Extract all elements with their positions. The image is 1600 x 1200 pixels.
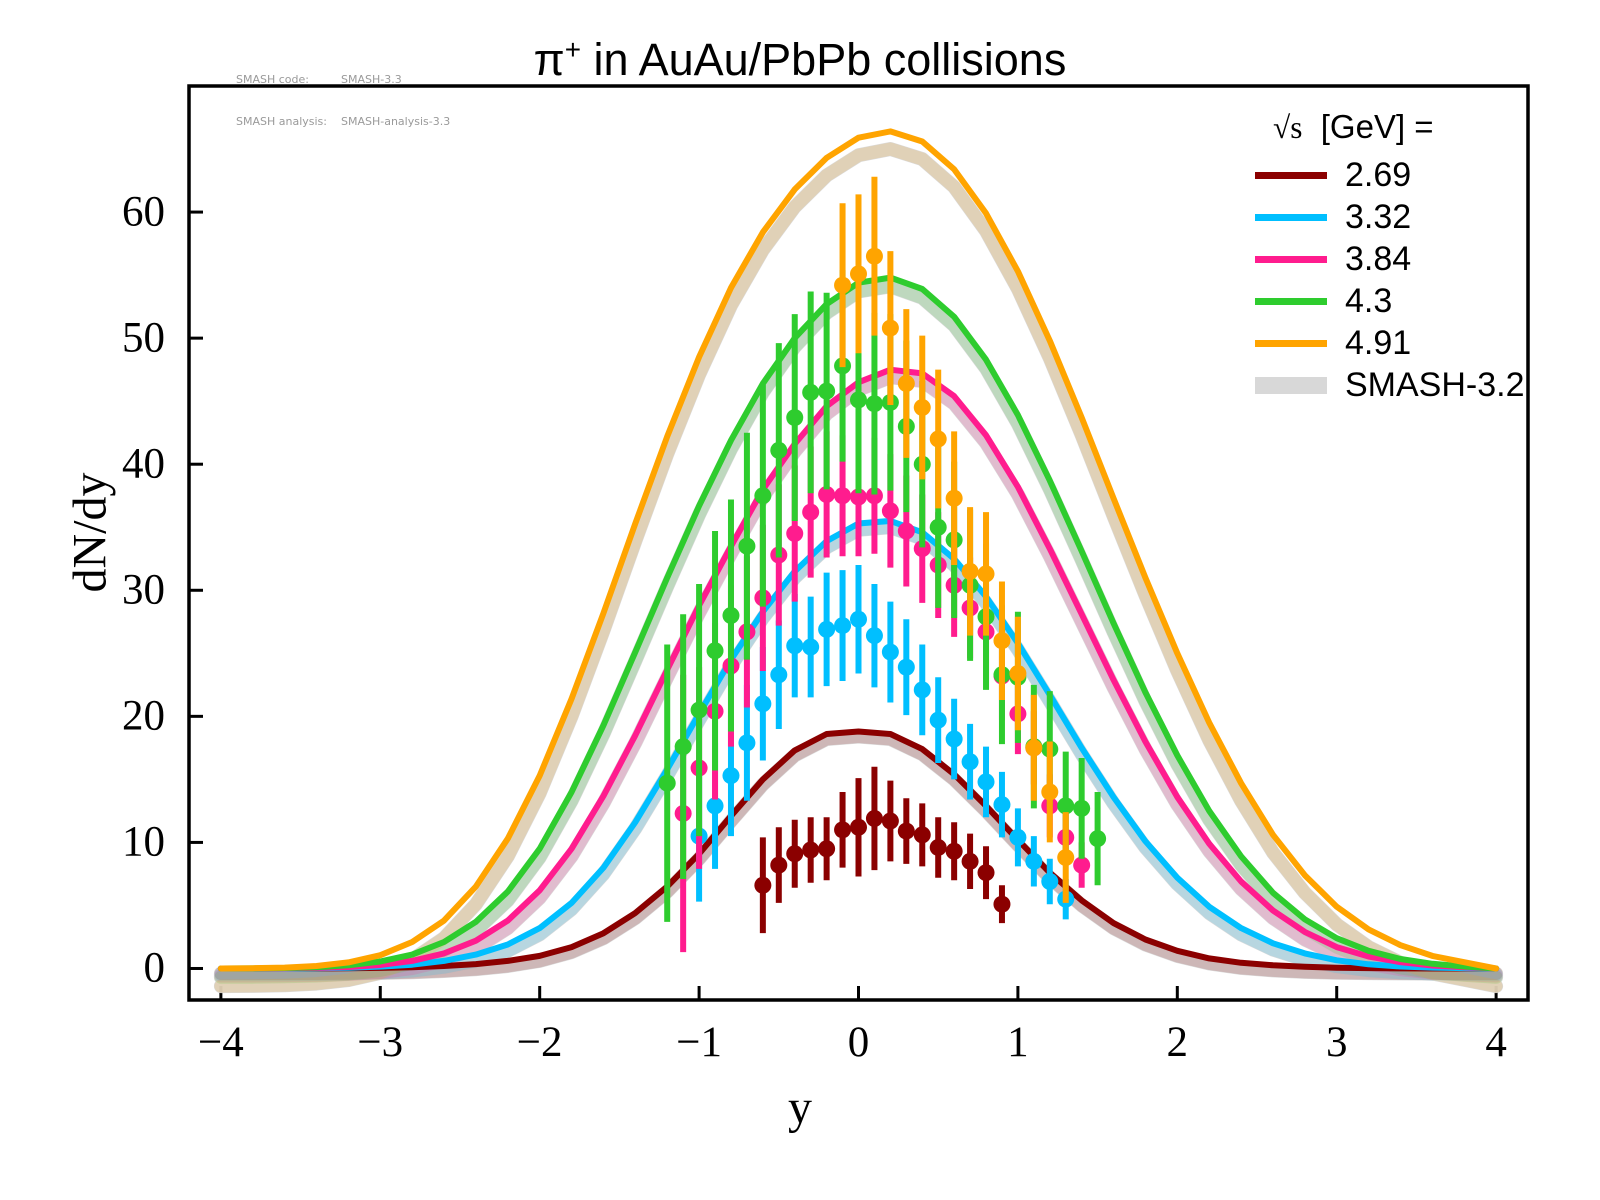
data-point: [993, 796, 1010, 813]
legend-item-4.91[interactable]: 4.91: [1255, 322, 1545, 364]
data-point: [866, 627, 883, 644]
data-point: [962, 563, 979, 580]
data-point: [882, 320, 899, 337]
data-point: [675, 738, 692, 755]
legend-title-suffix: [GeV] =: [1321, 108, 1434, 145]
data-point: [770, 857, 787, 874]
data-point: [1025, 739, 1042, 756]
data-point: [786, 525, 803, 542]
x-tick-label: 3: [1326, 1018, 1348, 1067]
data-point: [866, 395, 883, 412]
legend-swatch-icon: [1255, 298, 1327, 305]
data-point: [834, 617, 851, 634]
data-point: [898, 659, 915, 676]
data-point: [834, 821, 851, 838]
data-point: [1041, 873, 1058, 890]
data-point: [722, 767, 739, 784]
data-point: [770, 666, 787, 683]
legend-swatch-icon: [1255, 172, 1327, 179]
data-point: [802, 639, 819, 656]
data-point: [930, 430, 947, 447]
data-point: [914, 826, 931, 843]
data-point: [786, 409, 803, 426]
x-tick-label: −1: [676, 1018, 722, 1067]
data-point: [962, 753, 979, 770]
data-point: [930, 519, 947, 536]
data-point: [946, 731, 963, 748]
data-point: [738, 734, 755, 751]
data-point: [993, 896, 1010, 913]
legend-title: √s [GeV] =: [1273, 108, 1545, 146]
x-tick-label: 1: [1007, 1018, 1029, 1067]
legend-swatch-icon: [1255, 377, 1327, 394]
data-point: [882, 502, 899, 519]
legend-swatch-icon: [1255, 340, 1327, 347]
data-point: [786, 637, 803, 654]
data-point: [930, 839, 947, 856]
data-point: [707, 797, 724, 814]
data-point: [786, 845, 803, 862]
data-point: [1009, 665, 1026, 682]
legend-label: 4.3: [1345, 282, 1392, 321]
legend-label: SMASH-3.2: [1345, 366, 1525, 405]
data-point: [738, 538, 755, 555]
y-tick-label: 50: [40, 314, 165, 363]
data-point: [802, 841, 819, 858]
legend-label: 3.84: [1345, 240, 1411, 279]
data-point: [802, 504, 819, 521]
data-point: [707, 642, 724, 659]
data-point: [882, 812, 899, 829]
data-point: [882, 644, 899, 661]
data-point: [802, 384, 819, 401]
y-tick-label: 0: [40, 944, 165, 993]
data-point: [818, 383, 835, 400]
y-tick-label: 10: [40, 818, 165, 867]
x-tick-label: −3: [357, 1018, 403, 1067]
data-point: [754, 695, 771, 712]
data-point: [898, 375, 915, 392]
x-tick-label: −2: [517, 1018, 563, 1067]
data-point: [834, 487, 851, 504]
sqrt-s-symbol: √s: [1273, 110, 1302, 145]
data-point: [850, 265, 867, 282]
data-point: [818, 621, 835, 638]
data-point: [866, 248, 883, 265]
data-point: [850, 819, 867, 836]
data-point: [818, 840, 835, 857]
data-point: [1089, 830, 1106, 847]
data-point: [898, 823, 915, 840]
y-tick-label: 60: [40, 188, 165, 237]
data-point: [834, 277, 851, 294]
data-point: [722, 607, 739, 624]
data-point: [850, 391, 867, 408]
data-point: [978, 565, 995, 582]
data-point: [1009, 829, 1026, 846]
data-point: [754, 877, 771, 894]
data-point: [659, 775, 676, 792]
data-point: [1073, 800, 1090, 817]
x-tick-label: 2: [1167, 1018, 1189, 1067]
data-point: [914, 399, 931, 416]
data-point: [914, 681, 931, 698]
data-point: [946, 843, 963, 860]
data-point: [691, 702, 708, 719]
legend-swatch-icon: [1255, 214, 1327, 221]
data-point: [1041, 783, 1058, 800]
data-point: [850, 611, 867, 628]
data-point: [930, 712, 947, 729]
data-point: [866, 810, 883, 827]
data-point: [1073, 857, 1090, 874]
legend-item-3.32[interactable]: 3.32: [1255, 196, 1545, 238]
data-point: [962, 853, 979, 870]
data-point: [1057, 849, 1074, 866]
data-point: [946, 490, 963, 507]
chart-page: SMASH code:SMASH-3.3 SMASH analysis:SMAS…: [0, 0, 1600, 1200]
legend-item-2.69[interactable]: 2.69: [1255, 154, 1545, 196]
data-point: [1025, 853, 1042, 870]
legend-item-SMASH-3.2[interactable]: SMASH-3.2: [1255, 364, 1545, 406]
data-point: [1057, 797, 1074, 814]
legend-label: 4.91: [1345, 324, 1411, 363]
x-tick-label: −4: [198, 1018, 244, 1067]
legend-label: 2.69: [1345, 156, 1411, 195]
data-point: [754, 487, 771, 504]
data-point: [978, 773, 995, 790]
y-tick-label: 30: [40, 566, 165, 615]
legend: √s [GeV] = 2.693.323.844.34.91SMASH-3.2: [1255, 108, 1545, 406]
x-tick-label: 0: [848, 1018, 870, 1067]
legend-swatch-icon: [1255, 256, 1327, 263]
data-point: [770, 442, 787, 459]
y-tick-label: 40: [40, 440, 165, 489]
legend-label: 3.32: [1345, 198, 1411, 237]
y-tick-label: 20: [40, 692, 165, 741]
legend-item-4.3[interactable]: 4.3: [1255, 280, 1545, 322]
x-tick-label: 4: [1485, 1018, 1507, 1067]
data-point: [993, 632, 1010, 649]
data-point: [978, 864, 995, 881]
legend-item-3.84[interactable]: 3.84: [1255, 238, 1545, 280]
data-point: [898, 523, 915, 540]
